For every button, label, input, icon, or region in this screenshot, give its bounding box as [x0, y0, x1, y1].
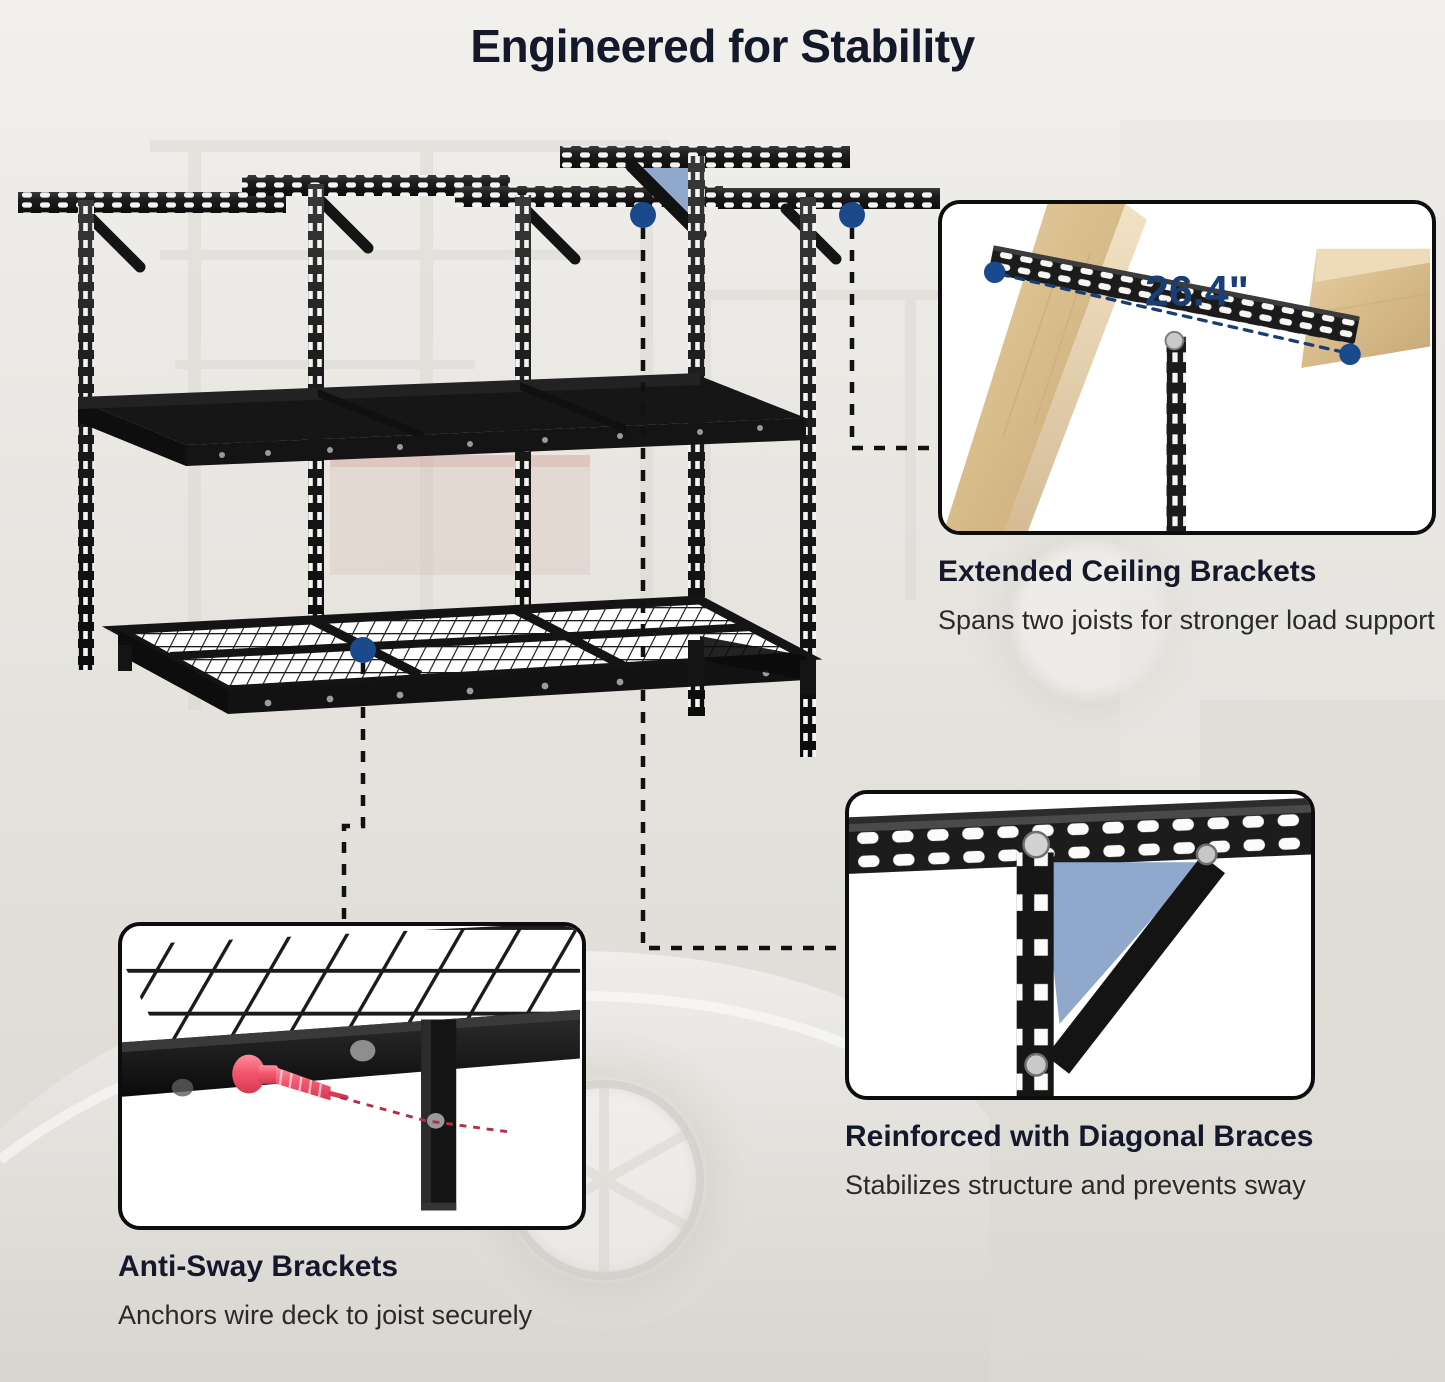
callout-description: Spans two joists for stronger load suppo… [938, 603, 1436, 638]
callout-description: Stabilizes structure and prevents sway [845, 1168, 1315, 1203]
mounting-hole [172, 1079, 193, 1097]
page-title: Engineered for Stability [470, 19, 974, 73]
ceiling-bracket-diagram: 26.4" [942, 204, 1432, 531]
bolt-icon [1025, 1054, 1046, 1075]
callout-image-frame [118, 922, 586, 1230]
callout-image-frame [845, 790, 1315, 1100]
ceiling-bracket-rail [718, 188, 940, 209]
callout-extended-ceiling-brackets: 26.4" Extended Ceiling Brackets Spans tw… [938, 200, 1436, 637]
callout-image-frame: 26.4" [938, 200, 1436, 535]
callout-description: Anchors wire deck to joist securely [118, 1298, 586, 1333]
bolt-icon [1023, 832, 1048, 857]
callout-anti-sway-brackets: Anti-Sway Brackets Anchors wire deck to … [118, 922, 586, 1332]
page-title-bar: Engineered for Stability [0, 0, 1445, 92]
upright-post [78, 200, 94, 670]
diagonal-brace-diagram [849, 794, 1311, 1096]
callout-title: Extended Ceiling Brackets [938, 555, 1436, 590]
callout-title: Reinforced with Diagonal Braces [845, 1120, 1315, 1155]
callout-diagonal-braces: Reinforced with Diagonal Braces Stabiliz… [845, 790, 1315, 1202]
bolt-icon [1166, 332, 1184, 350]
bracket-upright-post [1167, 337, 1187, 531]
callout-title: Anti-Sway Brackets [118, 1250, 586, 1285]
diagonal-brace [86, 213, 140, 267]
bolt-icon [1197, 845, 1216, 864]
product-illustration [0, 100, 940, 890]
anti-sway-diagram [122, 926, 582, 1226]
mounting-hole [350, 1040, 375, 1061]
dimension-label: 26.4" [1145, 268, 1249, 316]
